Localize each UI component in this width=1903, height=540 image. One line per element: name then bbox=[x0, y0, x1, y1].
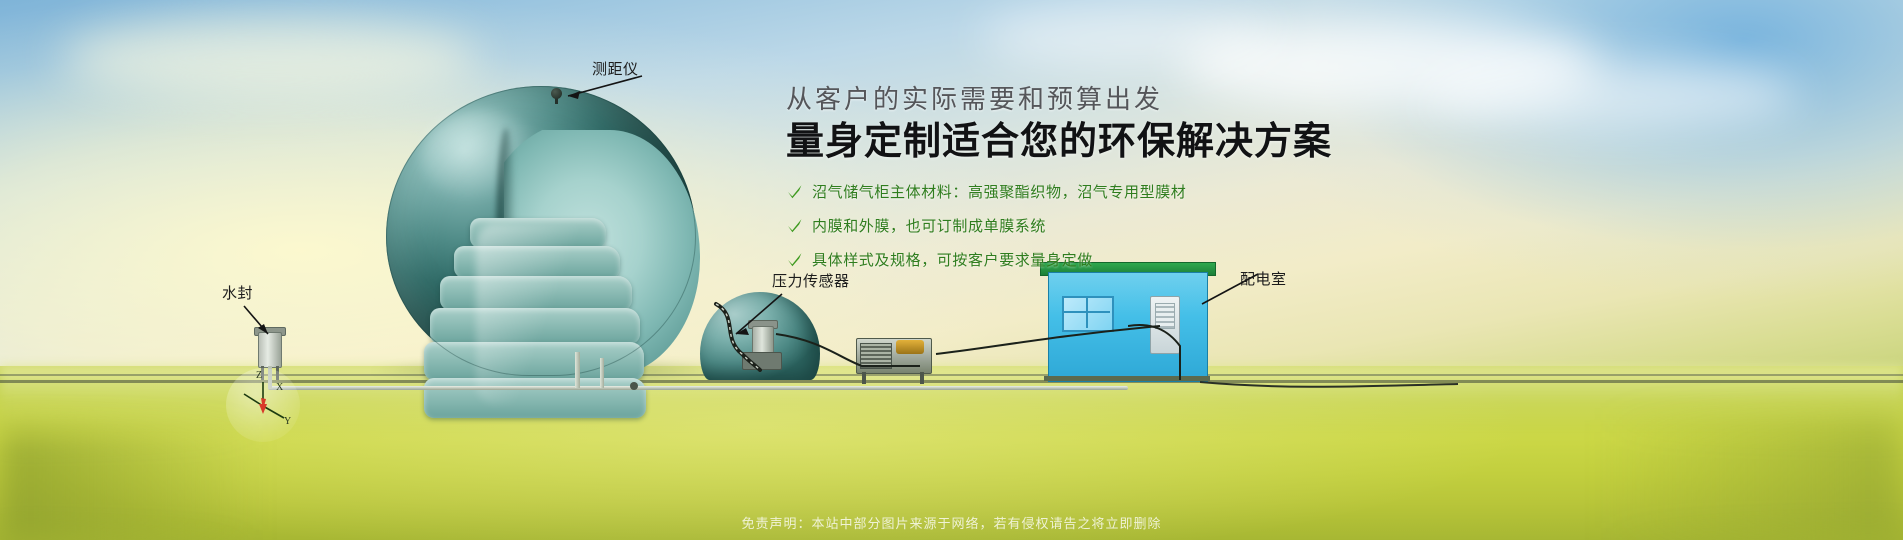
headline-text: 量身定制适合您的环保解决方案 bbox=[786, 121, 1506, 165]
axis-gizmo: Z Y X bbox=[226, 368, 300, 442]
window-transom bbox=[1062, 311, 1110, 313]
banner-stage: Z Y X 测距仪 水封 压力传感器 配电室 从客户的实际需要和预算出发 量身定… bbox=[0, 0, 1903, 540]
disclaimer-text: 免责声明：本站中部分图片来源于网络，若有侵权请告之将立即删除 bbox=[0, 513, 1903, 532]
axis-label-y: Y bbox=[284, 416, 291, 427]
pipe-riser bbox=[575, 352, 580, 388]
feature-item: 沼气储气柜主体材料：高强聚酯织物，沼气专用型膜材 bbox=[786, 181, 1506, 202]
feature-item: 内膜和外膜，也可订制成单膜系统 bbox=[786, 215, 1506, 236]
signal-cable-left bbox=[770, 318, 1190, 388]
pipe-riser bbox=[600, 358, 604, 388]
feature-item: 具体样式及规格，可按客户要求量身定做 bbox=[786, 249, 1506, 270]
feature-list: 沼气储气柜主体材料：高强聚酯织物，沼气专用型膜材 内膜和外膜，也可订制成单膜系统… bbox=[786, 181, 1506, 270]
feature-label: 内膜和外膜，也可订制成单膜系统 bbox=[812, 215, 1046, 236]
leader-line-water-seal bbox=[240, 304, 280, 338]
marketing-copy: 从客户的实际需要和预算出发 量身定制适合您的环保解决方案 沼气储气柜主体材料：高… bbox=[786, 84, 1506, 283]
dome-rim bbox=[386, 86, 696, 376]
leader-line-pressure-sensor bbox=[726, 292, 786, 338]
check-icon bbox=[786, 251, 803, 268]
callout-water-seal: 水封 bbox=[222, 282, 253, 303]
check-icon bbox=[786, 183, 803, 200]
axis-label-z: Z bbox=[256, 370, 262, 381]
axis-label-x: X bbox=[276, 382, 283, 393]
ground-cable bbox=[1200, 376, 1460, 392]
kicker-text: 从客户的实际需要和预算出发 bbox=[786, 84, 1506, 115]
biogas-dome bbox=[386, 86, 696, 376]
feature-label: 沼气储气柜主体材料：高强聚酯织物，沼气专用型膜材 bbox=[812, 181, 1186, 202]
check-icon bbox=[786, 217, 803, 234]
feature-label: 具体样式及规格，可按客户要求量身定做 bbox=[812, 249, 1093, 270]
pipe-valve bbox=[630, 382, 638, 390]
cloud bbox=[980, 8, 1280, 68]
callout-rangefinder: 测距仪 bbox=[592, 58, 639, 79]
